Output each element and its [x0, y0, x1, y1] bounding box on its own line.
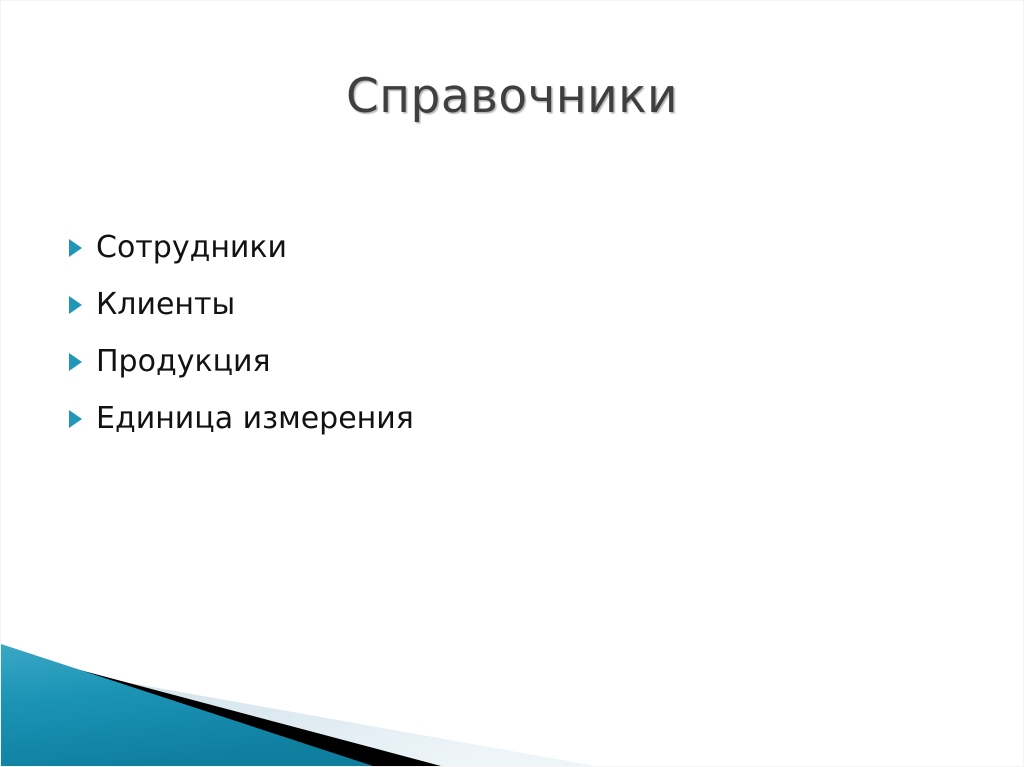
- slide-title: Справочники: [1, 69, 1023, 125]
- list-item: Клиенты: [63, 276, 903, 333]
- list-item: Единица измерения: [63, 390, 903, 447]
- list-item: Продукция: [63, 333, 903, 390]
- triangle-right-bullet-icon: [69, 239, 82, 257]
- slide-decoration-angles: [1, 616, 1024, 766]
- decoration-pale-stripe: [1, 660, 596, 766]
- list-item-label: Продукция: [96, 347, 271, 377]
- triangle-right-bullet-icon: [69, 410, 82, 428]
- presentation-slide: Справочники Сотрудники Клиенты Продукция…: [0, 0, 1024, 767]
- decoration-black-stripe: [1, 649, 441, 766]
- triangle-right-bullet-icon: [69, 353, 82, 371]
- bullet-list: Сотрудники Клиенты Продукция Единица изм…: [63, 219, 903, 447]
- triangle-right-bullet-icon: [69, 296, 82, 314]
- list-item-label: Клиенты: [96, 290, 235, 320]
- angles-decoration-graphic: [1, 616, 1024, 766]
- list-item-label: Сотрудники: [96, 233, 287, 263]
- list-item-label: Единица измерения: [96, 404, 414, 434]
- list-item: Сотрудники: [63, 219, 903, 276]
- decoration-teal-triangle: [1, 644, 373, 766]
